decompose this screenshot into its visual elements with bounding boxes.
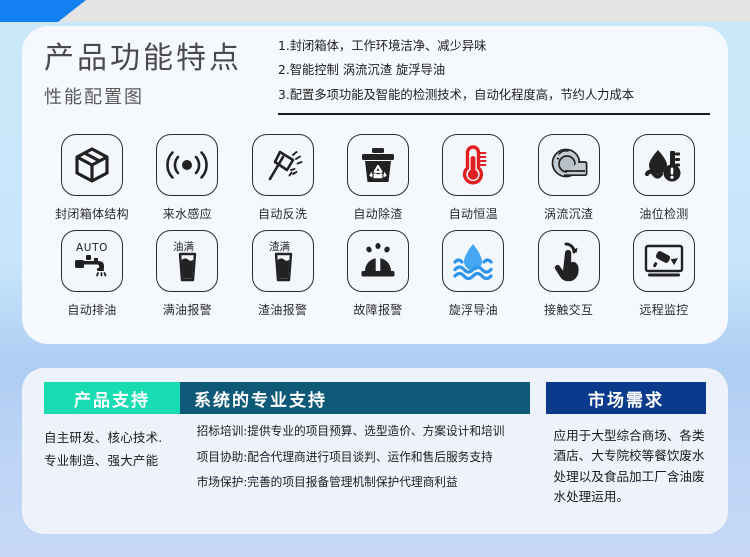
support-line: 招标培训:提供专业的项目预算、选型造价、方案设计和培训 bbox=[197, 426, 540, 438]
feature-label: 自动除渣 bbox=[353, 205, 402, 222]
shower-icon bbox=[252, 134, 314, 196]
bullet-item: 2.智能控制 涡流沉渣 旋浮导油 bbox=[278, 64, 708, 76]
support-card: 产品支持 系统的专业支持 市场需求 自主研发、核心技术. 专业制造、强大产能 招… bbox=[22, 368, 728, 534]
demand-line: 水处理运用。 bbox=[553, 487, 714, 507]
bar-system-support: 系统的专业支持 bbox=[180, 382, 530, 414]
title-block: 产品功能特点 性能配置图 bbox=[44, 42, 264, 109]
feature-item-auto-oil-drain[interactable]: AUTO 自动排油 bbox=[48, 230, 136, 318]
auto-faucet-icon: AUTO bbox=[61, 230, 123, 292]
page-subtitle: 性能配置图 bbox=[44, 83, 264, 109]
support-line: 市场保护:完善的项目报备管理机制保护代理商利益 bbox=[197, 477, 540, 489]
column-market-demand: 应用于大型综合商场、各类 酒店、大专院校等餐饮废水 处理以及食品加工厂含油废 水… bbox=[553, 426, 714, 508]
feature-grid: 封闭箱体结构 来水感 bbox=[48, 134, 708, 326]
page-title: 产品功能特点 bbox=[44, 42, 264, 77]
badge-text: 油满 bbox=[173, 240, 194, 253]
hand-tap-icon bbox=[538, 230, 600, 292]
bar-product-support: 产品支持 bbox=[44, 382, 180, 414]
feature-label: 自动排油 bbox=[67, 301, 116, 318]
feature-item-water-sensing[interactable]: 来水感应 bbox=[143, 134, 231, 222]
header-divider bbox=[278, 113, 710, 115]
feature-label: 涡流沉渣 bbox=[544, 205, 593, 222]
feature-label: 满油报警 bbox=[163, 301, 212, 318]
feature-item-residue-alarm[interactable]: 渣满 渣油报警 bbox=[239, 230, 327, 318]
support-line: 自主研发、核心技术. bbox=[44, 426, 197, 449]
monitor-camera-icon bbox=[633, 230, 695, 292]
feature-item-closed-cabinet[interactable]: 封闭箱体结构 bbox=[48, 134, 136, 222]
feature-item-touch-interaction[interactable]: 接触交互 bbox=[525, 230, 613, 318]
feature-row-2: AUTO 自动排油 bbox=[48, 230, 708, 318]
feature-item-fault-alarm[interactable]: 故障报警 bbox=[334, 230, 422, 318]
residue-full-glass-icon: 渣满 bbox=[252, 230, 314, 292]
feature-row-1: 封闭箱体结构 来水感 bbox=[48, 134, 708, 222]
card-header: 产品功能特点 性能配置图 1.封闭箱体，工作环境洁净、减少异味 2.智能控制 涡… bbox=[22, 26, 728, 126]
alarm-siren-icon bbox=[347, 230, 409, 292]
feature-item-floating-oil-guide[interactable]: 旋浮导油 bbox=[429, 230, 517, 318]
support-columns: 自主研发、核心技术. 专业制造、强大产能 招标培训:提供专业的项目预算、选型造价… bbox=[44, 426, 714, 508]
feature-label: 旋浮导油 bbox=[449, 301, 498, 318]
feature-item-oil-level-detection[interactable]: 油位检测 bbox=[620, 134, 708, 222]
column-system-support: 招标培训:提供专业的项目预算、选型造价、方案设计和培训 项目协助:配合代理商进行… bbox=[197, 426, 540, 508]
support-bar-row: 产品支持 系统的专业支持 市场需求 bbox=[44, 382, 706, 414]
thermometer-icon bbox=[442, 134, 504, 196]
box-icon bbox=[61, 134, 123, 196]
feature-item-oil-full-alarm[interactable]: 油满 满油报警 bbox=[143, 230, 231, 318]
feature-item-auto-thermostat[interactable]: 自动恒温 bbox=[429, 134, 517, 222]
feature-label: 自动反洗 bbox=[258, 205, 307, 222]
oil-full-glass-icon: 油满 bbox=[156, 230, 218, 292]
feature-label: 渣油报警 bbox=[258, 301, 307, 318]
infographic-page: 产品功能特点 性能配置图 1.封闭箱体，工作环境洁净、减少异味 2.智能控制 涡… bbox=[0, 0, 750, 557]
turbine-fan-icon bbox=[538, 134, 600, 196]
feature-label: 故障报警 bbox=[353, 301, 402, 318]
feature-label: 远程监控 bbox=[639, 301, 688, 318]
oil-level-warning-icon bbox=[633, 134, 695, 196]
trash-recycle-icon bbox=[347, 134, 409, 196]
demand-line: 应用于大型综合商场、各类 bbox=[553, 426, 714, 446]
feature-item-auto-backwash[interactable]: 自动反洗 bbox=[239, 134, 327, 222]
water-drop-wave-icon bbox=[442, 230, 504, 292]
demand-line: 酒店、大专院校等餐饮废水 bbox=[553, 446, 714, 466]
bullet-item: 1.封闭箱体，工作环境洁净、减少异味 bbox=[278, 40, 708, 52]
svg-text:AUTO: AUTO bbox=[76, 242, 108, 254]
badge-text: 渣满 bbox=[269, 240, 290, 253]
feature-item-vortex-sedimentation[interactable]: 涡流沉渣 bbox=[525, 134, 613, 222]
demand-line: 处理以及食品加工厂含油废 bbox=[553, 467, 714, 487]
bullet-list: 1.封闭箱体，工作环境洁净、减少异味 2.智能控制 涡流沉渣 旋浮导油 3.配置… bbox=[278, 40, 708, 115]
bullet-item: 3.配置多项功能及智能的检测技术，自动化程度高，节约人力成本 bbox=[278, 89, 708, 101]
signal-wave-icon bbox=[156, 134, 218, 196]
feature-label: 接触交互 bbox=[544, 301, 593, 318]
feature-item-remote-monitoring[interactable]: 远程监控 bbox=[620, 230, 708, 318]
top-strip bbox=[0, 0, 750, 22]
bar-market-demand: 市场需求 bbox=[546, 382, 706, 414]
feature-item-auto-deslagging[interactable]: 自动除渣 bbox=[334, 134, 422, 222]
feature-label: 封闭箱体结构 bbox=[55, 205, 129, 222]
support-line: 项目协助:配合代理商进行项目谈判、运作和售后服务支持 bbox=[197, 452, 540, 464]
feature-label: 油位检测 bbox=[639, 205, 688, 222]
support-line: 专业制造、强大产能 bbox=[44, 449, 197, 472]
features-card: 产品功能特点 性能配置图 1.封闭箱体，工作环境洁净、减少异味 2.智能控制 涡… bbox=[22, 26, 728, 344]
column-product-support: 自主研发、核心技术. 专业制造、强大产能 bbox=[44, 426, 197, 508]
feature-label: 来水感应 bbox=[163, 205, 212, 222]
feature-label: 自动恒温 bbox=[449, 205, 498, 222]
